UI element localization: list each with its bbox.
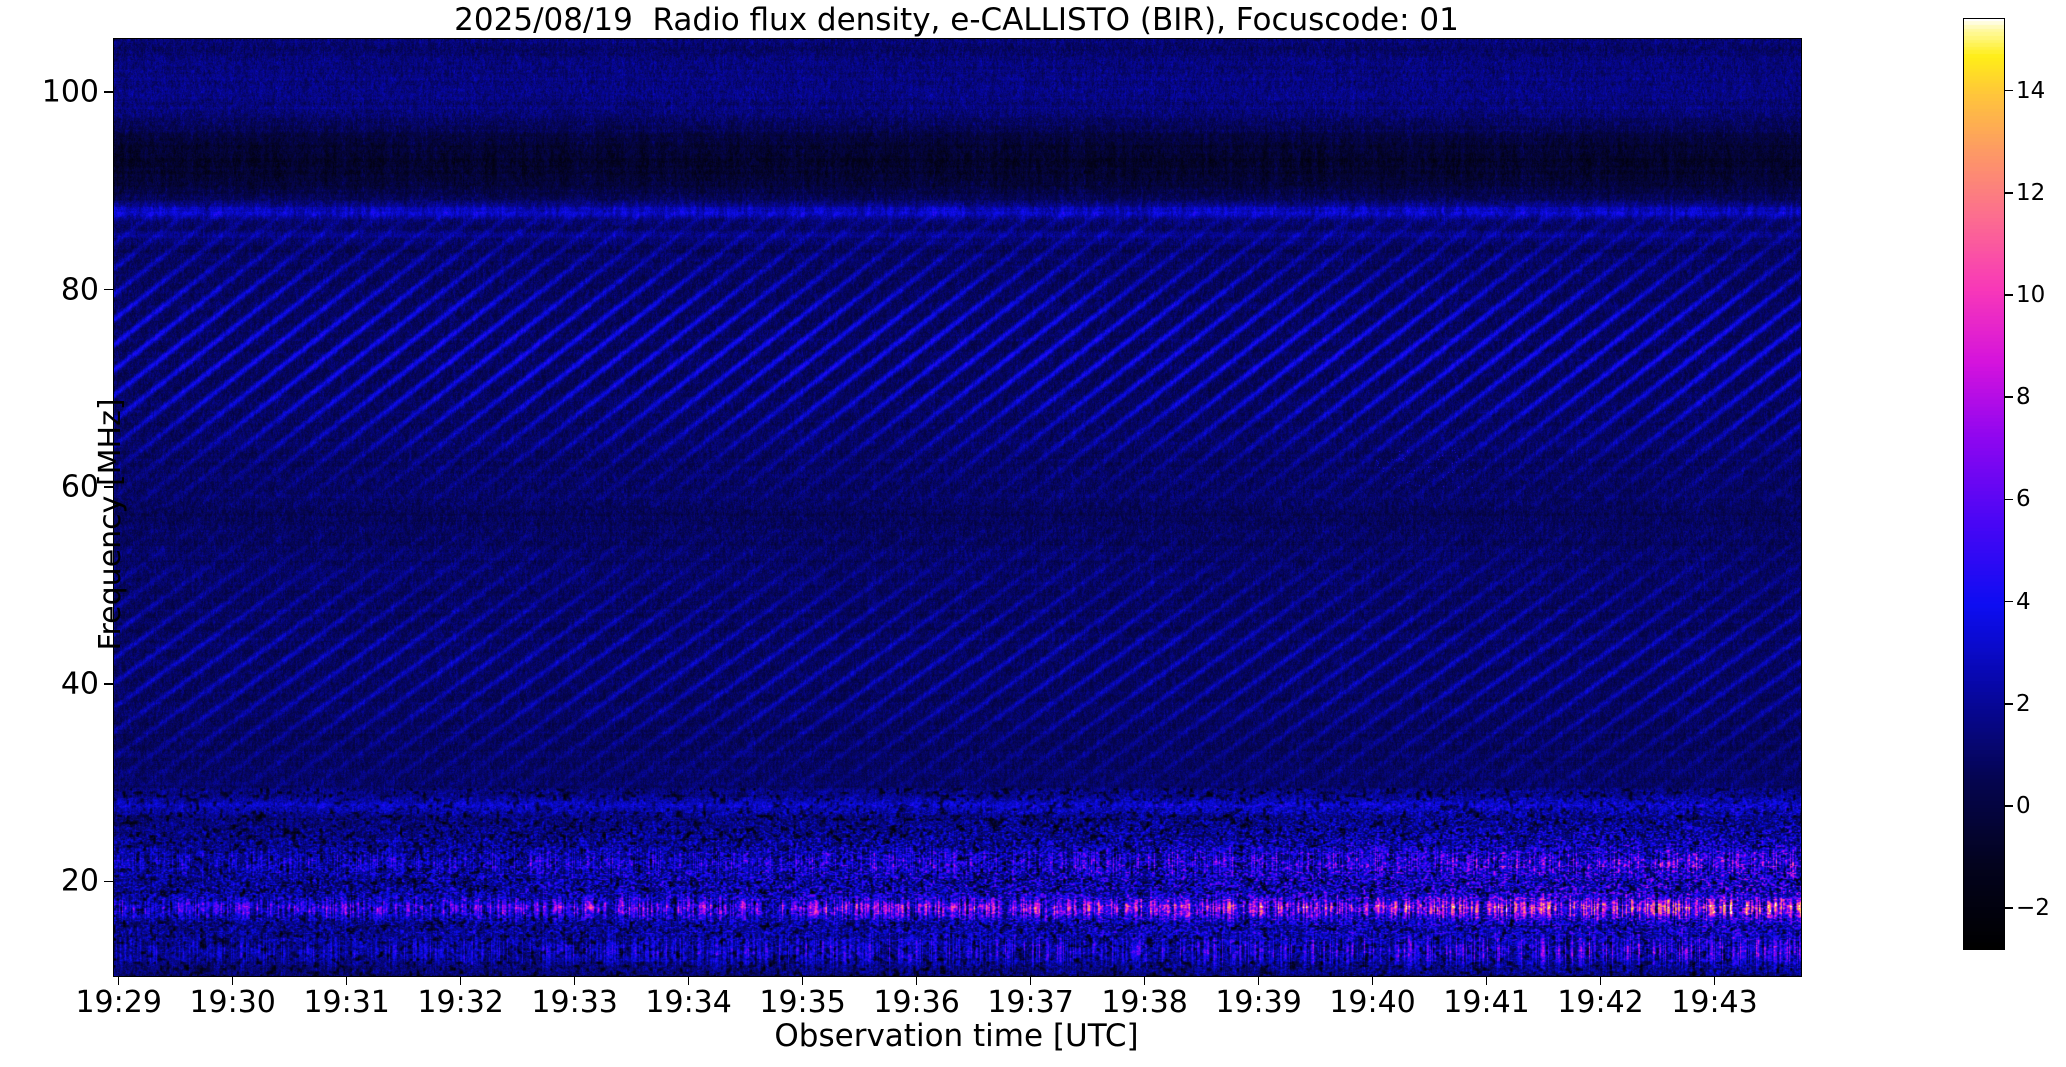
y-tick-label-40: 40 [0,667,99,702]
x-tick-mark [1372,976,1374,985]
page-title: 2025/08/19 Radio flux density, e-CALLIST… [113,2,1800,38]
colorbar-tick-mark [2005,192,2013,194]
spectrogram-image[interactable] [114,39,1801,976]
colorbar-tick-mark [2005,90,2013,92]
x-axis-label: Observation time [UTC] [113,1018,1800,1054]
y-tick-mark [104,683,113,685]
colorbar-tick-mark [2005,703,2013,705]
colorbar-tick-mark [2005,805,2013,807]
x-tick-mark [1486,976,1488,985]
x-tick-mark [802,976,804,985]
x-tick-mark [1714,976,1716,985]
colorbar-tick-label-6: 6 [2016,486,2031,512]
colorbar-axes[interactable]: 14121086420−2 [1963,18,2005,950]
colorbar-tick-label-0: 0 [2016,793,2031,819]
x-tick-mark [118,976,120,985]
colorbar-tick-mark [2005,499,2013,501]
figure-canvas: 2025/08/19 Radio flux density, e-CALLIST… [0,0,2066,1067]
colorbar-tick-mark [2005,601,2013,603]
x-tick-mark [1258,976,1260,985]
colorbar-tick-mark [2005,907,2013,909]
y-tick-mark [104,289,113,291]
y-tick-label-20: 20 [0,864,99,899]
y-tick-label-100: 100 [0,75,99,110]
colorbar-tick-mark [2005,396,2013,398]
colorbar-gradient [1964,19,2004,949]
x-tick-mark [574,976,576,985]
x-tick-mark [1600,976,1602,985]
colorbar-tick-label-12: 12 [2016,180,2045,206]
y-tick-mark [104,486,113,488]
colorbar-tick-label-14: 14 [2016,78,2045,104]
x-tick-mark [688,976,690,985]
x-tick-mark [232,976,234,985]
y-tick-mark [104,881,113,883]
colorbar-tick-label-neg2: −2 [2016,895,2050,921]
y-tick-mark [104,91,113,93]
x-tick-mark [460,976,462,985]
x-tick-mark [916,976,918,985]
colorbar-tick-label-2: 2 [2016,691,2031,717]
x-tick-label-19-43: 19:43 [1635,985,1795,1020]
colorbar-tick-mark [2005,294,2013,296]
x-tick-mark [346,976,348,985]
y-tick-label-60: 60 [0,469,99,504]
x-tick-mark [1030,976,1032,985]
colorbar-tick-label-4: 4 [2016,589,2031,615]
x-tick-mark [1144,976,1146,985]
spectrogram-axes[interactable]: Frequency [MHz] [113,38,1802,977]
colorbar-tick-label-8: 8 [2016,384,2031,410]
colorbar-tick-label-10: 10 [2016,282,2045,308]
y-tick-label-80: 80 [0,272,99,307]
